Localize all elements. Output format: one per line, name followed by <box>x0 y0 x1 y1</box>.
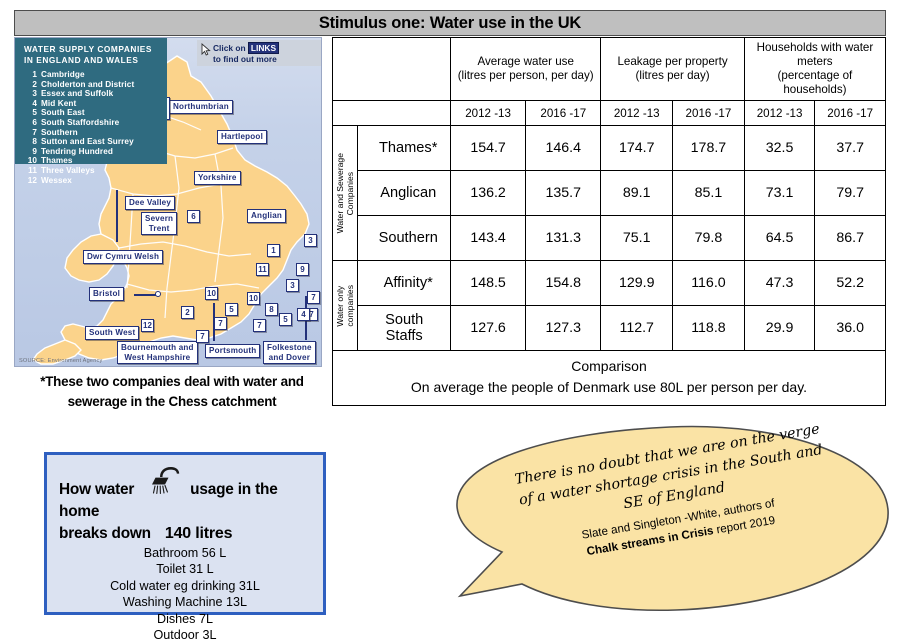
breakdown-line2-a: breaks down <box>59 525 151 542</box>
breakdown-line-1: How waterusage in the home <box>59 479 311 523</box>
cell-value: 129.9 <box>601 261 673 306</box>
table-row: Water and Sewerage Companies Thames* 154… <box>333 126 886 171</box>
legend-label: Cambridge <box>41 70 85 80</box>
company-name-south-staffs: South Staffs <box>358 306 451 351</box>
legend-label: South Staffordshire <box>41 118 119 128</box>
header-average-water-use: Average water use (litres per person, pe… <box>450 38 600 101</box>
header-year: 2012 -13 <box>450 101 525 126</box>
table-comparison-row: Comparison On average the people of Denm… <box>333 351 886 406</box>
map-number-marker-4[interactable]: 4 <box>297 308 310 321</box>
header-year: 2012 -13 <box>744 101 815 126</box>
rowgroup-label-text: Water and Sewerage Companies <box>335 153 355 233</box>
header-leakage-per-property: Leakage per property (litres per day) <box>601 38 744 101</box>
map-number-marker-7c[interactable]: 7 <box>214 317 227 330</box>
legend-label: Wessex <box>41 176 72 186</box>
breakdown-heading: How waterusage in the home breaks down14… <box>59 465 311 545</box>
header-year: 2012 -13 <box>601 101 673 126</box>
cell-value: 64.5 <box>744 216 815 261</box>
cell-value: 112.7 <box>601 306 673 351</box>
legend-number: 1 <box>24 70 37 80</box>
map-legend-title: WATER SUPPLY COMPANIES IN ENGLAND AND WA… <box>24 44 161 65</box>
legend-label: Mid Kent <box>41 99 76 109</box>
legend-item[interactable]: 9Tendring Hundred <box>24 147 161 157</box>
cell-value: 29.9 <box>744 306 815 351</box>
cell-value: 143.4 <box>450 216 525 261</box>
map-number-marker-3a[interactable]: 3 <box>304 234 317 247</box>
cell-value: 135.7 <box>526 171 601 216</box>
quote-speech-bubble: There is no doubt that we are on the ver… <box>452 424 892 616</box>
map-label-dwr-cymru-welsh[interactable]: Dwr Cymru Welsh <box>83 250 163 264</box>
breakdown-item: Washing Machine 13L <box>59 594 311 610</box>
map-label-hartlepool[interactable]: Hartlepool <box>217 130 267 144</box>
map-number-marker-6[interactable]: 6 <box>187 210 200 223</box>
map-number-marker-10a[interactable]: 10 <box>205 287 218 300</box>
legend-label: Sutton and East Surrey <box>41 137 134 147</box>
breakdown-item: Toilet 31 L <box>59 561 311 577</box>
comparison-note: Comparison On average the people of Denm… <box>333 351 886 406</box>
cell-value: 116.0 <box>673 261 745 306</box>
legend-item[interactable]: 8Sutton and East Surrey <box>24 137 161 147</box>
legend-item[interactable]: 7Southern <box>24 128 161 138</box>
breakdown-line1-a: How water <box>59 481 134 498</box>
legend-item[interactable]: 11Three Valleys <box>24 166 161 176</box>
rowgroup-water-and-sewerage: Water and Sewerage Companies <box>333 126 358 261</box>
cell-value: 154.8 <box>526 261 601 306</box>
speech-bubble-shape <box>452 424 892 616</box>
cell-value: 118.8 <box>673 306 745 351</box>
legend-number: 6 <box>24 118 37 128</box>
cell-value: 32.5 <box>744 126 815 171</box>
cell-value: 79.7 <box>815 171 886 216</box>
legend-item[interactable]: 2Cholderton and District <box>24 80 161 90</box>
legend-number: 4 <box>24 99 37 109</box>
breakdown-total-litres: 140 litres <box>165 525 232 542</box>
map-label-south-west[interactable]: South West <box>85 326 139 340</box>
legend-item[interactable]: 4Mid Kent <box>24 99 161 109</box>
map-label-northumbrian[interactable]: Northumbrian <box>169 100 233 114</box>
map-number-marker-10b[interactable]: 10 <box>247 292 260 305</box>
company-name-anglican: Anglican <box>358 171 451 216</box>
map-number-marker-7e[interactable]: 7 <box>196 330 209 343</box>
click-links-before: Click on <box>213 43 248 53</box>
map-number-marker-8[interactable]: 8 <box>265 303 278 316</box>
legend-label: Thames <box>41 156 73 166</box>
legend-number: 3 <box>24 89 37 99</box>
map-number-marker-2[interactable]: 2 <box>181 306 194 319</box>
water-use-table: Average water use (litres per person, pe… <box>332 37 886 406</box>
cell-value: 136.2 <box>450 171 525 216</box>
cell-value: 127.6 <box>450 306 525 351</box>
map-label-yorkshire[interactable]: Yorkshire <box>194 171 241 185</box>
legend-number: 2 <box>24 80 37 90</box>
legend-number: 12 <box>24 176 37 186</box>
map-number-marker-5a[interactable]: 5 <box>225 303 238 316</box>
map-number-marker-3b[interactable]: 3 <box>286 279 299 292</box>
map-number-marker-1[interactable]: 1 <box>267 244 280 257</box>
map-label-portsmouth[interactable]: Portsmouth <box>205 344 260 358</box>
cell-value: 85.1 <box>673 171 745 216</box>
company-name-affinity: Affinity* <box>358 261 451 306</box>
map-label-severn-trent[interactable]: Severn Trent <box>141 212 177 235</box>
map-number-marker-7d[interactable]: 7 <box>253 319 266 332</box>
legend-item[interactable]: 1Cambridge <box>24 70 161 80</box>
company-name-thames: Thames* <box>358 126 451 171</box>
table-row: South Staffs 127.6 127.3 112.7 118.8 29.… <box>333 306 886 351</box>
legend-number: 8 <box>24 137 37 147</box>
legend-label: Essex and Suffolk <box>41 89 113 99</box>
legend-item[interactable]: 10Thames <box>24 156 161 166</box>
cell-value: 148.5 <box>450 261 525 306</box>
cell-value: 131.3 <box>526 216 601 261</box>
map-label-bournemouth-west-hampshire[interactable]: Bournemouth and West Hampshire <box>117 341 198 364</box>
map-number-marker-7a[interactable]: 7 <box>307 291 320 304</box>
table-row: Anglican 136.2 135.7 89.1 85.1 73.1 79.7 <box>333 171 886 216</box>
cell-value: 47.3 <box>744 261 815 306</box>
map-number-marker-11[interactable]: 11 <box>256 263 269 276</box>
legend-number: 11 <box>24 166 37 176</box>
leader-dot-bristol <box>155 291 161 297</box>
rowgroup-label-text: Water only companies <box>335 285 355 327</box>
page-title: Stimulus one: Water use in the UK <box>14 10 886 36</box>
cell-value: 52.2 <box>815 261 886 306</box>
page-title-text: Stimulus one: Water use in the UK <box>319 14 581 33</box>
legend-number: 9 <box>24 147 37 157</box>
header-households-with-meters: Households with water meters (percentage… <box>744 38 885 101</box>
map-source-credit: SOURCE: Environment Agency <box>19 358 103 364</box>
map-panel: WATER SUPPLY COMPANIES IN ENGLAND AND WA… <box>14 37 322 367</box>
cell-value: 178.7 <box>673 126 745 171</box>
legend-label: South East <box>41 108 85 118</box>
map-number-marker-5b[interactable]: 5 <box>279 313 292 326</box>
legend-item[interactable]: 3Essex and Suffolk <box>24 89 161 99</box>
cell-value: 154.7 <box>450 126 525 171</box>
map-number-marker-9[interactable]: 9 <box>296 263 309 276</box>
breakdown-item: Cold water eg drinking 31L <box>59 578 311 594</box>
map-label-anglian[interactable]: Anglian <box>247 209 286 223</box>
legend-number: 5 <box>24 108 37 118</box>
legend-item[interactable]: 5South East <box>24 108 161 118</box>
cell-value: 79.8 <box>673 216 745 261</box>
header-corner-blank <box>333 38 451 101</box>
map-label-dee-valley[interactable]: Dee Valley <box>125 196 175 210</box>
cell-value: 75.1 <box>601 216 673 261</box>
click-links-after: to find out more <box>213 54 277 64</box>
map-label-folkestone-and-dover[interactable]: Folkestone and Dover <box>263 341 316 364</box>
shower-icon <box>151 465 183 495</box>
legend-label: Southern <box>41 128 78 138</box>
legend-label: Cholderton and District <box>41 80 134 90</box>
header-year: 2016 -17 <box>526 101 601 126</box>
click-links-hint[interactable]: Click on LINKS to find out more <box>197 40 321 66</box>
cell-value: 146.4 <box>526 126 601 171</box>
header-year: 2016 -17 <box>815 101 886 126</box>
rowgroup-water-only: Water only companies <box>333 261 358 351</box>
links-chip[interactable]: LINKS <box>248 42 279 54</box>
water-usage-breakdown-box: How waterusage in the home breaks down14… <box>44 452 326 615</box>
breakdown-item: Outdoor 3L <box>59 627 311 643</box>
legend-label: Three Valleys <box>41 166 95 176</box>
breakdown-line-2: breaks down140 litres <box>59 523 311 545</box>
cell-value: 127.3 <box>526 306 601 351</box>
legend-number: 10 <box>24 156 37 166</box>
company-name-southern: Southern <box>358 216 451 261</box>
breakdown-item: Bathroom 56 L <box>59 545 311 561</box>
legend-item[interactable]: 12Wessex <box>24 176 161 186</box>
map-number-marker-12[interactable]: 12 <box>141 319 154 332</box>
map-footnote: *These two companies deal with water and… <box>14 372 330 412</box>
legend-item[interactable]: 6South Staffordshire <box>24 118 161 128</box>
legend-number: 7 <box>24 128 37 138</box>
cell-value: 36.0 <box>815 306 886 351</box>
map-label-bristol[interactable]: Bristol <box>89 287 124 301</box>
breakdown-item: Dishes 7L <box>59 611 311 627</box>
cell-value: 89.1 <box>601 171 673 216</box>
table-row: Southern 143.4 131.3 75.1 79.8 64.5 86.7 <box>333 216 886 261</box>
cell-value: 37.7 <box>815 126 886 171</box>
cell-value: 174.7 <box>601 126 673 171</box>
map-legend: WATER SUPPLY COMPANIES IN ENGLAND AND WA… <box>15 38 167 164</box>
header-year: 2016 -17 <box>673 101 745 126</box>
table-row: Water only companies Affinity* 148.5 154… <box>333 261 886 306</box>
leader-line-dee-valley <box>116 190 118 242</box>
header-years-blank <box>333 101 451 126</box>
cell-value: 73.1 <box>744 171 815 216</box>
cell-value: 86.7 <box>815 216 886 261</box>
legend-label: Tendring Hundred <box>41 147 113 157</box>
table-header-groups: Average water use (litres per person, pe… <box>333 38 886 101</box>
table-header-years: 2012 -13 2016 -17 2012 -13 2016 -17 2012… <box>333 101 886 126</box>
cursor-arrow-icon <box>201 43 211 56</box>
